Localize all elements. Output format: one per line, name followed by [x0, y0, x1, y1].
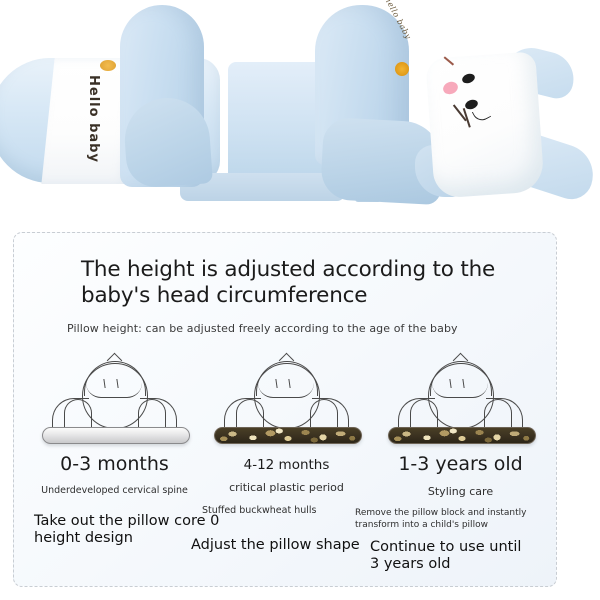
baby-fringe-peak-icon: [275, 379, 290, 388]
stage-note-secondary: Stuffed buckwheat hulls: [184, 505, 334, 517]
stage-action: Adjust the pillow shape: [191, 537, 391, 554]
illustration-4-12-months: [196, 353, 377, 448]
panel-subtitle: Pillow height: can be adjusted freely ac…: [67, 322, 537, 335]
age-stage-columns: 0-3 months Underdeveloped cervical spine…: [14, 353, 558, 583]
stage-action: Continue to use until 3 years old: [370, 539, 530, 574]
age-label: 0-3 months: [24, 453, 205, 475]
stage-note: Styling care: [370, 485, 551, 499]
baby-fringe-peak-icon: [449, 379, 464, 388]
stage-note: critical plastic period: [196, 481, 377, 495]
product-photo: Hello baby hello baby: [0, 0, 600, 220]
illustration-1-3-years: [370, 353, 551, 448]
stage-note-secondary: Remove the pillow block and instantly tr…: [355, 508, 551, 531]
panel-heading: The height is adjusted according to the …: [81, 257, 511, 310]
age-stage-column: 0-3 months Underdeveloped cervical spine…: [24, 353, 205, 583]
stage-note: Underdeveloped cervical spine: [24, 485, 205, 497]
age-label: 1-3 years old: [370, 453, 551, 475]
pillow-bar-empty: [42, 427, 190, 444]
sun-badge-icon: [100, 60, 116, 71]
age-label: 4-12 months: [196, 457, 377, 473]
pillow-bar-buckwheat: [388, 427, 536, 444]
age-stage-column: 4-12 months critical plastic period Stuf…: [196, 353, 377, 583]
baby-fringe-peak-icon: [103, 379, 118, 388]
pillow-bar-buckwheat: [214, 427, 362, 444]
info-panel: The height is adjusted according to the …: [13, 232, 557, 587]
bear-face-panel: [425, 51, 544, 198]
age-stage-column: 1-3 years old Styling care Remove the pi…: [370, 353, 551, 583]
illustration-0-3-months: [24, 353, 205, 448]
